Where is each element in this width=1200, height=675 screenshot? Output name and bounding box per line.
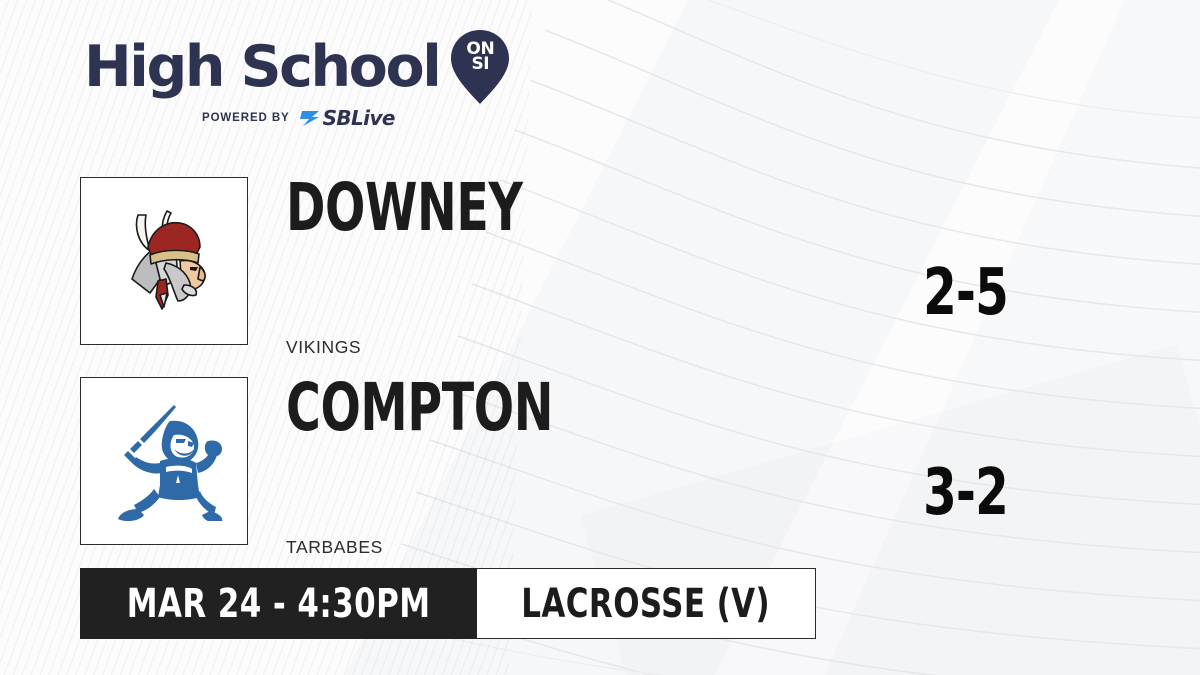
game-sport-text: LACROSSE (V) (521, 584, 770, 624)
team-info-downey: DOWNEY VIKINGS (286, 177, 886, 347)
on-si-pin-icon: ON SI (449, 28, 511, 106)
sblive-wordmark: SBLive (323, 108, 395, 128)
game-datetime-panel: MAR 24 - 4:30PM (80, 568, 477, 639)
sblive-bolt-icon (299, 109, 321, 127)
tarbabe-swordsman-logo (104, 401, 224, 521)
powered-by-label: POWERED BY (202, 112, 290, 124)
game-sport-panel: LACROSSE (V) (477, 568, 815, 639)
powered-by-row: POWERED BY SBLive (202, 108, 514, 128)
team-record-downey: 2-5 (860, 261, 1072, 325)
site-header: High School ON SI POWERED BY SBLive (84, 34, 514, 138)
team-logo-box-downey (80, 177, 248, 345)
game-info-bar: MAR 24 - 4:30PM LACROSSE (V) (80, 568, 816, 639)
team-info-compton: COMPTON TARBABES (286, 377, 886, 547)
team-name-downey: DOWNEY (286, 175, 766, 241)
team-mascot-downey: VIKINGS (286, 337, 361, 358)
team-logo-box-compton (80, 377, 248, 545)
game-datetime-text: MAR 24 - 4:30PM (127, 584, 431, 624)
badge-line-si: SI (449, 57, 511, 72)
brand-logo-text: High School (84, 39, 439, 96)
team-mascot-compton: TARBABES (286, 537, 383, 558)
team-record-compton: 3-2 (860, 461, 1072, 525)
team-record-downey-value: 2-5 (924, 261, 1009, 325)
team-name-compton: COMPTON (286, 375, 766, 441)
viking-head-logo (104, 201, 224, 321)
brand-logo[interactable]: High School ON SI (84, 34, 514, 100)
team-record-compton-value: 3-2 (924, 461, 1009, 525)
on-si-badge-text: ON SI (449, 42, 511, 72)
